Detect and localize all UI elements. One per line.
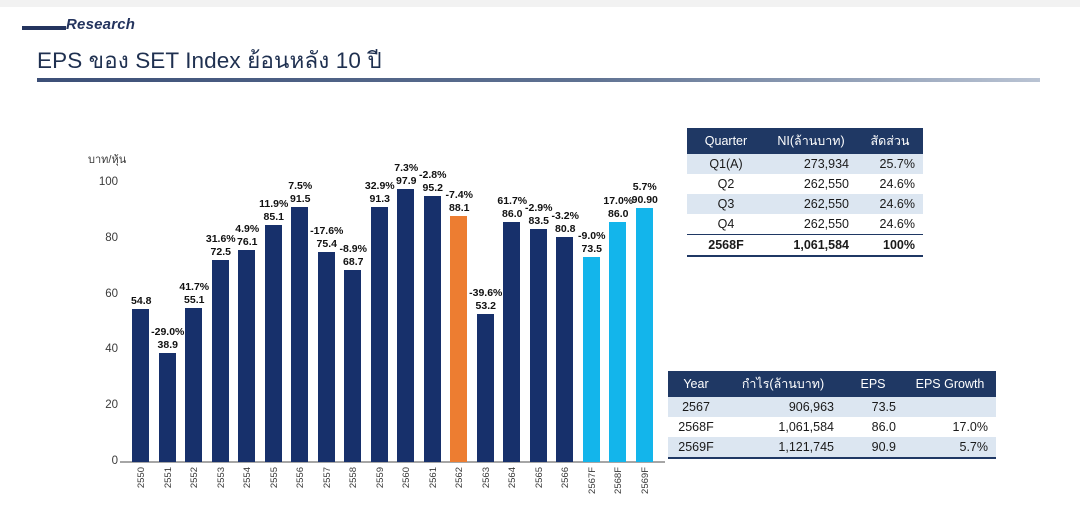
bar-group: 91.332.9%	[367, 155, 393, 462]
col-profit: กำไร(ล้านบาท)	[724, 371, 842, 397]
bar-value-label: 85.1	[264, 211, 284, 223]
bar-2553[interactable]	[212, 260, 229, 462]
x-tick-label: 2558	[348, 467, 359, 488]
bar-growth-label: 41.7%	[179, 281, 209, 293]
bar-2561[interactable]	[424, 196, 441, 462]
x-tick-label: 2556	[295, 467, 306, 488]
cell-share: 25.7%	[857, 154, 923, 174]
bar-2559[interactable]	[371, 207, 388, 462]
bar-group: 76.14.9%	[234, 155, 260, 462]
bar-group: 72.531.6%	[208, 155, 234, 462]
cell-quarter: Q3	[687, 194, 765, 214]
bar-2550[interactable]	[132, 309, 149, 462]
bar-group: 53.2-39.6%	[473, 155, 499, 462]
bar-growth-label: 7.5%	[288, 180, 312, 192]
bar-2554[interactable]	[238, 250, 255, 462]
bar-group: 86.017.0%	[605, 155, 631, 462]
x-tick-label: 2569F	[640, 467, 651, 494]
table-row: 2567906,96373.5	[668, 397, 996, 417]
plot-area: 54.838.9-29.0%55.141.7%72.531.6%76.14.9%…	[128, 155, 658, 462]
bar-2557[interactable]	[318, 252, 335, 462]
col-ni: NI(ล้านบาท)	[765, 128, 857, 154]
cell-eps: 90.9	[842, 437, 904, 458]
x-tick-label: 2564	[507, 467, 518, 488]
y-tick-label: 100	[82, 176, 118, 188]
bar-value-label: 95.2	[423, 182, 443, 194]
bar-growth-label: -2.8%	[419, 169, 446, 181]
bar-value-label: 88.1	[449, 202, 469, 214]
top-strip	[0, 0, 1080, 7]
bar-growth-label: -8.9%	[340, 243, 367, 255]
bar-value-label: 91.5	[290, 193, 310, 205]
total-cell-quarter: 2568F	[687, 235, 765, 257]
bar-2565[interactable]	[530, 229, 547, 462]
total-cell-share: 100%	[857, 235, 923, 257]
x-tick-label: 2551	[163, 467, 174, 488]
bar-growth-label: -9.0%	[578, 230, 605, 242]
slide-page: Research EPS ของ SET Index ย้อนหลัง 10 ป…	[0, 0, 1080, 514]
cell-ni: 262,550	[765, 194, 857, 214]
bar-value-label: 86.0	[502, 208, 522, 220]
x-tick-label: 2567F	[587, 467, 598, 494]
cell-year: 2568F	[668, 417, 724, 437]
x-tick-label: 2566	[560, 467, 571, 488]
cell-share: 24.6%	[857, 194, 923, 214]
y-axis-unit-label: บาท/หุ้น	[88, 150, 126, 168]
bar-2569F[interactable]	[636, 208, 653, 462]
quarter-table: Quarter NI(ล้านบาท) สัดส่วน Q1(A)273,934…	[687, 128, 923, 257]
x-tick-label: 2563	[481, 467, 492, 488]
x-tick-label: 2555	[269, 467, 280, 488]
bar-growth-label: -29.0%	[151, 326, 184, 338]
bar-2558[interactable]	[344, 270, 361, 462]
bar-group: 86.061.7%	[499, 155, 525, 462]
year-table: Year กำไร(ล้านบาท) EPS EPS Growth 256790…	[668, 371, 996, 459]
col-eps: EPS	[842, 371, 904, 397]
x-tick-label: 2562	[454, 467, 465, 488]
cell-share: 24.6%	[857, 174, 923, 194]
bar-group: 88.1-7.4%	[446, 155, 472, 462]
bar-value-label: 68.7	[343, 256, 363, 268]
bar-2560[interactable]	[397, 189, 414, 462]
table-header-row: Quarter NI(ล้านบาท) สัดส่วน	[687, 128, 923, 154]
bar-growth-label: 4.9%	[235, 223, 259, 235]
cell-year: 2569F	[668, 437, 724, 458]
bar-growth-label: -7.4%	[446, 189, 473, 201]
bar-growth-label: 5.7%	[633, 181, 657, 193]
header-rule	[22, 26, 66, 30]
bar-growth-label: 32.9%	[365, 180, 395, 192]
bar-growth-label: 7.3%	[394, 162, 418, 174]
bar-value-label: 38.9	[158, 339, 178, 351]
bar-group: 68.7-8.9%	[340, 155, 366, 462]
y-tick-label: 40	[82, 343, 118, 355]
y-tick-label: 20	[82, 399, 118, 411]
bar-group: 85.111.9%	[261, 155, 287, 462]
header-divider	[37, 78, 1040, 82]
bar-value-label: 86.0	[608, 208, 628, 220]
bar-group: 54.8	[128, 155, 154, 462]
bar-2551[interactable]	[159, 353, 176, 462]
bar-value-label: 83.5	[529, 215, 549, 227]
x-tick-label: 2560	[401, 467, 412, 488]
bar-growth-label: -3.2%	[552, 210, 579, 222]
bar-group: 55.141.7%	[181, 155, 207, 462]
bar-2552[interactable]	[185, 308, 202, 462]
cell-ni: 262,550	[765, 214, 857, 235]
table-row: Q2262,55024.6%	[687, 174, 923, 194]
col-share: สัดส่วน	[857, 128, 923, 154]
bar-2566[interactable]	[556, 237, 573, 463]
bar-value-label: 76.1	[237, 236, 257, 248]
bar-growth-label: 31.6%	[206, 233, 236, 245]
bar-2556[interactable]	[291, 207, 308, 462]
bar-value-label: 72.5	[211, 246, 231, 258]
x-tick-label: 2568F	[613, 467, 624, 494]
page-title: EPS ของ SET Index ย้อนหลัง 10 ปี	[37, 42, 382, 78]
table-row: Q4262,55024.6%	[687, 214, 923, 235]
table-row: 2568F1,061,58486.017.0%	[668, 417, 996, 437]
total-cell-ni: 1,061,584	[765, 235, 857, 257]
bar-2562[interactable]	[450, 216, 467, 462]
bar-group: 90.905.7%	[632, 155, 658, 462]
header-eyebrow: Research	[66, 16, 135, 33]
table-row: Q3262,55024.6%	[687, 194, 923, 214]
cell-quarter: Q1(A)	[687, 154, 765, 174]
cell-profit: 906,963	[724, 397, 842, 417]
bar-2568F[interactable]	[609, 222, 626, 462]
cell-eps: 86.0	[842, 417, 904, 437]
bar-growth-label: -39.6%	[469, 287, 502, 299]
cell-share: 24.6%	[857, 214, 923, 235]
y-tick-label: 0	[82, 455, 118, 467]
bar-value-label: 91.3	[370, 193, 390, 205]
col-eps-growth: EPS Growth	[904, 371, 996, 397]
bar-group: 91.57.5%	[287, 155, 313, 462]
bar-value-label: 75.4	[317, 238, 337, 250]
bar-2567F[interactable]	[583, 257, 600, 462]
col-year: Year	[668, 371, 724, 397]
bar-value-label: 80.8	[555, 223, 575, 235]
x-tick-label: 2554	[242, 467, 253, 488]
x-tick-label: 2550	[136, 467, 147, 488]
x-tick-label: 2565	[534, 467, 545, 488]
cell-quarter: Q2	[687, 174, 765, 194]
bar-2564[interactable]	[503, 222, 520, 462]
eps-bar-chart: บาท/หุ้น 020406080100 54.838.9-29.0%55.1…	[0, 92, 670, 512]
bar-value-label: 90.90	[632, 194, 658, 206]
bar-growth-label: 11.9%	[259, 198, 288, 210]
cell-ni: 273,934	[765, 154, 857, 174]
bar-2555[interactable]	[265, 225, 282, 463]
bar-2563[interactable]	[477, 314, 494, 462]
table-header-row: Year กำไร(ล้านบาท) EPS EPS Growth	[668, 371, 996, 397]
table-row: 2569F1,121,74590.95.7%	[668, 437, 996, 458]
x-tick-label: 2557	[322, 467, 333, 488]
bar-growth-label: 17.0%	[603, 195, 633, 207]
table-row: Q1(A)273,93425.7%	[687, 154, 923, 174]
table-total-row: 2568F1,061,584100%	[687, 235, 923, 257]
col-quarter: Quarter	[687, 128, 765, 154]
bar-value-label: 97.9	[396, 175, 416, 187]
cell-eps: 73.5	[842, 397, 904, 417]
bar-group: 95.2-2.8%	[420, 155, 446, 462]
bar-group: 73.5-9.0%	[579, 155, 605, 462]
bar-group: 97.97.3%	[393, 155, 419, 462]
x-tick-label: 2552	[189, 467, 200, 488]
bar-growth-label: -2.9%	[525, 202, 552, 214]
bar-value-label: 54.8	[131, 295, 151, 307]
cell-growth: 17.0%	[904, 417, 996, 437]
bar-value-label: 73.5	[582, 243, 602, 255]
x-tick-label: 2553	[216, 467, 227, 488]
bar-growth-label: -17.6%	[310, 225, 343, 237]
bar-group: 38.9-29.0%	[155, 155, 181, 462]
y-tick-label: 80	[82, 232, 118, 244]
bar-growth-label: 61.7%	[497, 195, 527, 207]
bar-group: 83.5-2.9%	[526, 155, 552, 462]
bar-group: 80.8-3.2%	[552, 155, 578, 462]
bar-value-label: 53.2	[476, 300, 496, 312]
cell-growth: 5.7%	[904, 437, 996, 458]
y-tick-label: 60	[82, 288, 118, 300]
x-tick-label: 2559	[375, 467, 386, 488]
cell-ni: 262,550	[765, 174, 857, 194]
cell-year: 2567	[668, 397, 724, 417]
cell-profit: 1,121,745	[724, 437, 842, 458]
x-tick-label: 2561	[428, 467, 439, 488]
cell-quarter: Q4	[687, 214, 765, 235]
cell-growth	[904, 397, 996, 417]
cell-profit: 1,061,584	[724, 417, 842, 437]
bar-group: 75.4-17.6%	[314, 155, 340, 462]
bar-value-label: 55.1	[184, 294, 204, 306]
